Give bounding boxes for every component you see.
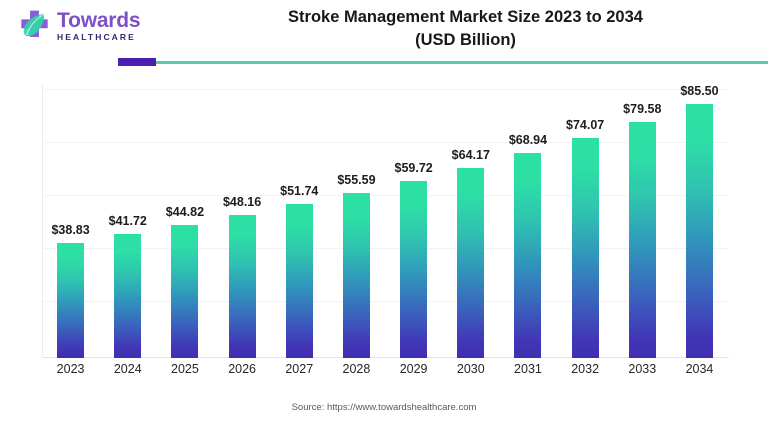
bar-value-label: $38.83 [51,223,89,237]
x-axis-tick-label: 2033 [614,362,671,384]
bar [629,122,656,358]
bar [457,168,484,358]
bar [171,225,198,358]
bar [286,204,313,358]
bar-value-label: $64.17 [452,148,490,162]
page-title: Stroke Management Market Size 2023 to 20… [178,6,753,52]
bar-value-label: $41.72 [109,214,147,228]
bar-value-label: $79.58 [623,102,661,116]
bar [343,193,370,358]
x-axis-tick-label: 2034 [671,362,728,384]
divider-accent [118,58,156,66]
x-axis-tick-label: 2031 [499,362,556,384]
bar-value-label: $44.82 [166,205,204,219]
bar [686,104,713,358]
bar-group: $79.58 [614,85,671,358]
x-axis-tick-label: 2025 [156,362,213,384]
bar-value-label: $68.94 [509,133,547,147]
x-axis-tick-label: 2026 [214,362,271,384]
infographic-canvas: Towards HEALTHCARE Stroke Management Mar… [0,0,768,432]
bar [57,243,84,358]
bar-group: $38.83 [42,85,99,358]
title-line-1: Stroke Management Market Size 2023 to 20… [178,6,753,29]
bar [114,234,141,358]
header: Towards HEALTHCARE Stroke Management Mar… [0,0,768,58]
brand-logo: Towards HEALTHCARE [18,9,140,42]
bar-group: $68.94 [499,85,556,358]
source-note: Source: https://www.towardshealthcare.co… [0,402,768,413]
bar-group: $48.16 [214,85,271,358]
bar-group: $41.72 [99,85,156,358]
x-axis-ticks: 2023202420252026202720282029203020312032… [42,362,728,384]
bar-group: $64.17 [442,85,499,358]
x-axis-tick-label: 2030 [442,362,499,384]
bar-series: $38.83$41.72$44.82$48.16$51.74$55.59$59.… [42,85,728,358]
bar [572,138,599,358]
bar-group: $44.82 [156,85,213,358]
bar-value-label: $55.59 [337,173,375,187]
bar-value-label: $85.50 [680,84,718,98]
bar-group: $85.50 [671,85,728,358]
bar-value-label: $59.72 [394,161,432,175]
bar-value-label: $74.07 [566,118,604,132]
x-axis-tick-label: 2028 [328,362,385,384]
bar-group: $74.07 [557,85,614,358]
x-axis-tick-label: 2027 [271,362,328,384]
header-divider [118,58,768,66]
brand-name: Towards [57,10,140,31]
bar-value-label: $51.74 [280,184,318,198]
x-axis-tick-label: 2023 [42,362,99,384]
x-axis-tick-label: 2032 [557,362,614,384]
bar [400,181,427,358]
medical-cross-leaf-icon [18,9,51,42]
bar-group: $55.59 [328,85,385,358]
bar [514,153,541,358]
bar-group: $59.72 [385,85,442,358]
x-axis-tick-label: 2029 [385,362,442,384]
brand-tagline: HEALTHCARE [57,33,140,42]
x-axis-tick-label: 2024 [99,362,156,384]
bar-chart: $38.83$41.72$44.82$48.16$51.74$55.59$59.… [42,85,728,358]
divider-line [118,61,768,64]
bar [229,215,256,358]
title-line-2: (USD Billion) [178,29,753,52]
bar-group: $51.74 [271,85,328,358]
bar-value-label: $48.16 [223,195,261,209]
